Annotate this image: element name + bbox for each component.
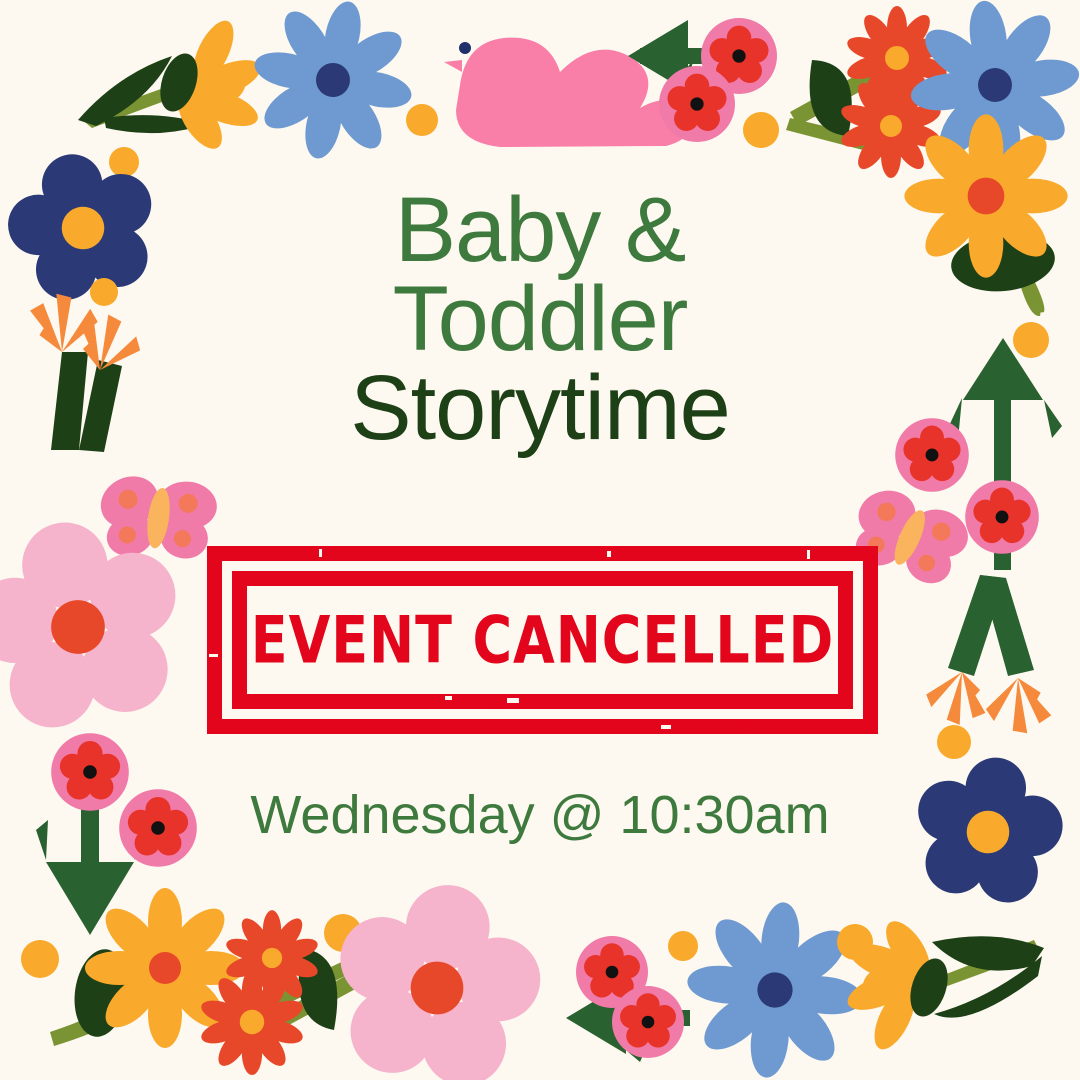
poster-content: Baby & Toddler Storytime EVENT CANCELLED… — [0, 0, 1080, 1080]
title-line-1: Baby & — [0, 186, 1080, 275]
event-time: Wednesday @ 10:30am — [0, 784, 1080, 846]
title-line-3: Storytime — [0, 364, 1080, 453]
stamp-distress-mark — [507, 698, 519, 703]
title-line-2: Toddler — [0, 275, 1080, 364]
stamp-distress-mark — [607, 551, 611, 557]
page-title: Baby & Toddler Storytime — [0, 186, 1080, 454]
stamp-distress-mark — [255, 586, 260, 591]
poster-canvas: Baby & Toddler Storytime EVENT CANCELLED… — [0, 0, 1080, 1080]
event-cancelled-stamp: EVENT CANCELLED — [207, 546, 878, 734]
stamp-distress-mark — [807, 550, 810, 559]
stamp-distress-mark — [445, 696, 452, 700]
stamp-distress-mark — [661, 725, 671, 729]
status-badge: EVENT CANCELLED — [230, 535, 854, 746]
stamp-distress-mark — [319, 549, 322, 557]
stamp-distress-mark — [209, 654, 218, 657]
stamp-distress-mark — [490, 701, 500, 708]
